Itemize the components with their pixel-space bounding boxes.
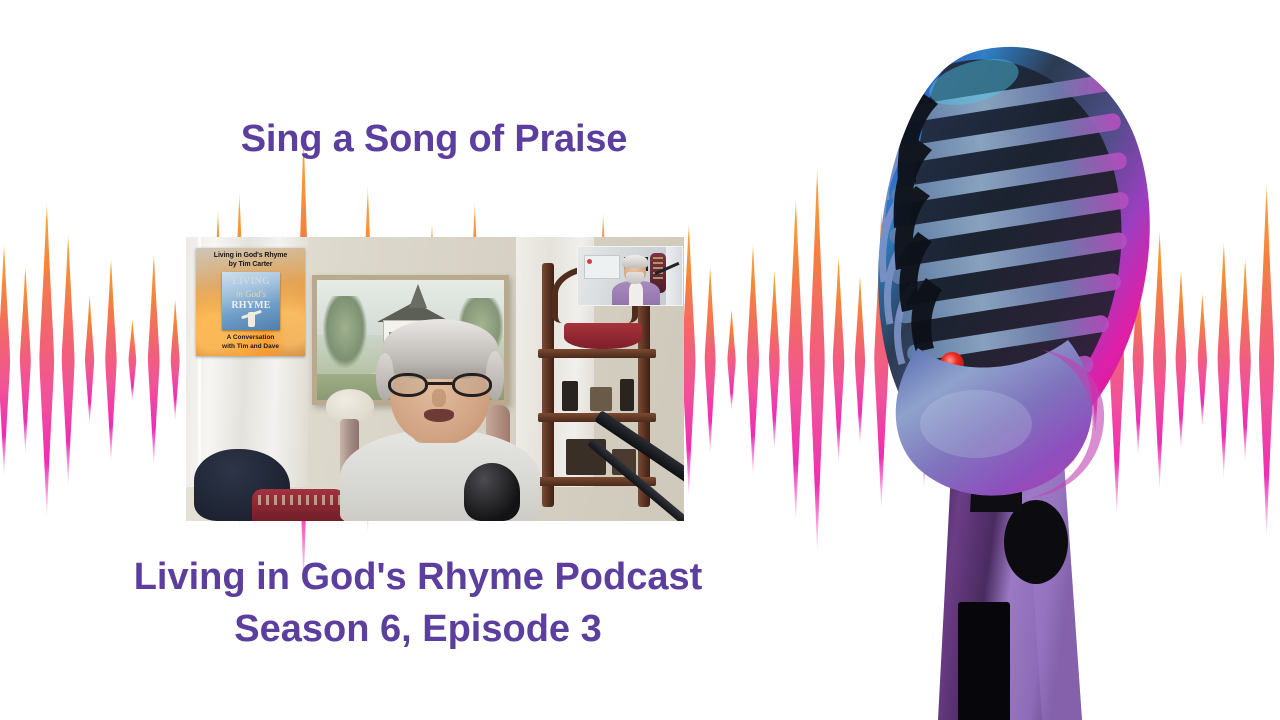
mic-yoke	[946, 304, 1022, 512]
podcast-episode-card: Sing a Song of Praise	[0, 0, 1280, 720]
eyeglasses	[388, 373, 492, 397]
cover-heading-line1: Living in God's Rhyme	[214, 252, 287, 259]
mic-head	[878, 47, 1160, 464]
book-word-living: LIVING	[224, 276, 278, 287]
book-figure-icon	[248, 312, 255, 327]
foreground-microphone	[464, 463, 520, 521]
retro-microphone-icon	[846, 42, 1176, 720]
season-episode: Season 6, Episode 3	[0, 604, 836, 656]
cover-heading-line2: by Tim Carter	[229, 261, 273, 268]
episode-caption: Living in God's Rhyme Podcast Season 6, …	[0, 552, 836, 655]
picture-in-picture-inset[interactable]	[577, 246, 683, 306]
book-cover: LIVING in God's RHYME	[222, 272, 280, 330]
page-title: Sing a Song of Praise	[0, 118, 868, 161]
podcast-name: Living in God's Rhyme Podcast	[134, 556, 703, 598]
mic-led-indicator	[940, 352, 964, 376]
podcast-cover-art: Living in God's Rhyme by Tim Carter LIVI…	[196, 248, 305, 356]
cover-footer-line1: A Conversation	[227, 334, 275, 341]
cover-footer-line2: with Tim and Dave	[222, 343, 279, 350]
mic-lower-body	[896, 340, 1104, 498]
book-word-rhyme: RHYME	[224, 300, 278, 311]
mic-stand	[938, 404, 1082, 720]
video-thumbnail[interactable]: Living in God's Rhyme by Tim Carter LIVI…	[186, 237, 684, 521]
book-word-in-gods: in God's	[224, 289, 278, 299]
red-case	[252, 489, 348, 521]
